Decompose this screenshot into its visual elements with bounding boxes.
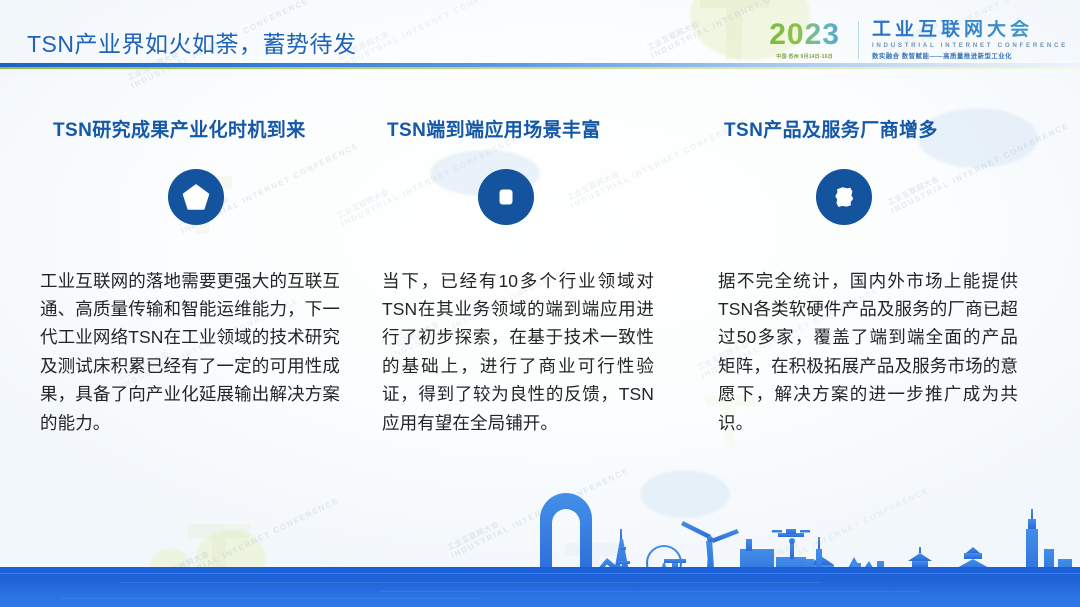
column-1-heading: TSN研究成果产业化时机到来 xyxy=(40,120,338,143)
pentagon-icon xyxy=(168,169,224,225)
divider-green-bar xyxy=(0,67,1080,69)
column-3: TSN产品及服务厂商增多 据不完全统计，国内外市场上能提供TSN各类软硬件产品及… xyxy=(690,120,1080,437)
column-2-icon-wrap xyxy=(382,169,668,225)
column-3-body: 据不完全统计，国内外市场上能提供TSN各类软硬件产品及服务的厂商已超过50多家，… xyxy=(718,267,1018,437)
water-line-3 xyxy=(380,591,920,592)
column-3-heading: TSN产品及服务厂商增多 xyxy=(718,120,1050,143)
logo-name-en: INDUSTRIAL INTERNET CONFERENCE xyxy=(872,42,1068,49)
column-2-heading: TSN端到端应用场景丰富 xyxy=(382,120,668,143)
logo-name-cn: 工业互联网大会 xyxy=(872,20,1068,40)
presentation-slide: 工业互联网大会INDUSTRIAL INTERNET CONFERENCE 工业… xyxy=(0,0,1080,607)
logo-date: 中国·苏州 9月14日-16日 xyxy=(769,53,840,60)
water-band xyxy=(0,567,1080,607)
slide-title: TSN产业界如火如荼，蓄势待发 xyxy=(27,25,357,59)
logo-year: 2023 xyxy=(769,20,840,50)
content-columns: TSN研究成果产业化时机到来 工业互联网的落地需要更强大的互联互通、高质量传输和… xyxy=(0,120,1080,437)
watermark-cn: 工业互联网大会 xyxy=(336,0,517,63)
rounded-square-icon xyxy=(478,169,534,225)
logo-slogan: 数实融合 数智赋能——高质量推进新型工业化 xyxy=(872,51,1068,60)
column-1-body: 工业互联网的落地需要更强大的互联互通、高质量传输和智能运维能力，下一代工业网络T… xyxy=(40,267,340,437)
water-line-2 xyxy=(120,582,820,583)
blob-polygon-icon xyxy=(816,169,872,225)
title-divider xyxy=(0,63,1080,70)
watermark-en: INDUSTRIAL INTERNET CONFERENCE xyxy=(340,0,521,72)
column-1: TSN研究成果产业化时机到来 工业互联网的落地需要更强大的互联互通、高质量传输和… xyxy=(0,120,360,437)
column-3-icon-wrap xyxy=(718,169,1050,225)
logo-separator xyxy=(858,21,859,59)
column-1-icon-wrap xyxy=(40,169,338,225)
bg-t-mark-1 xyxy=(690,0,780,66)
logo-name-block: 工业互联网大会 INDUSTRIAL INTERNET CONFERENCE 数… xyxy=(868,20,1068,60)
water-line-4 xyxy=(60,598,480,599)
column-2: TSN端到端应用场景丰富 当下，已经有10多个行业领域对TSN在其业务领域的端到… xyxy=(360,120,690,437)
logo-year-block: 2023 中国·苏州 9月14日-16日 xyxy=(769,20,849,60)
column-2-body: 当下，已经有10多个行业领域对TSN在其业务领域的端到端应用进行了初步探索，在基… xyxy=(382,267,654,437)
water-line-1 xyxy=(0,573,1080,574)
conference-logo: 2023 中国·苏州 9月14日-16日 工业互联网大会 INDUSTRIAL … xyxy=(769,20,1068,60)
